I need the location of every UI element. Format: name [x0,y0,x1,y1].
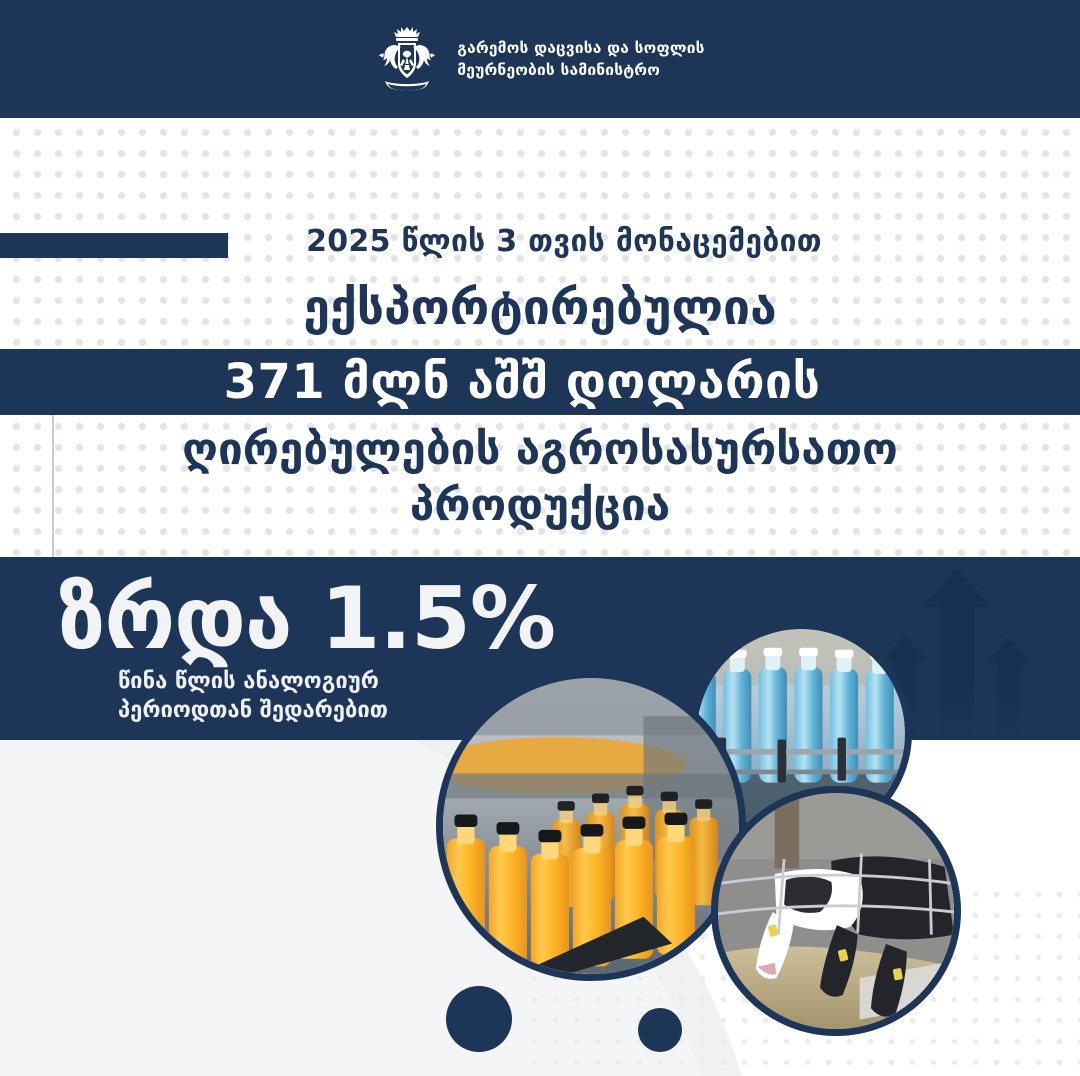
headline-line-3: ღირებულების აგროსასურსათო [0,422,1080,478]
ministry-name: გარემოს დაცვისა და სოფლის მეურნეობის სამ… [457,37,704,82]
headline-line-2: 371 მლნ აშშ დოლარის [224,354,821,410]
dairy-cows-photo [711,786,961,1036]
header-inner: გარემოს დაცვისა და სოფლის მეურნეობის სამ… [375,23,704,95]
decorative-circle-large [446,986,512,1052]
headline-line-1: ექსპორტირებულია [0,283,1080,335]
headline-lines-3-4: ღირებულების აგროსასურსათო პროდუქცია [0,422,1080,535]
header-bar: გარემოს დაცვისა და სოფლის მეურნეობის სამ… [0,0,1080,118]
infographic-canvas: გარემოს დაცვისა და სოფლის მეურნეობის სამ… [0,0,1080,1076]
juice-bottling-line-photo [436,671,746,981]
growth-note: წინა წლის ანალოგიურ პერიოდთან შედარებით [118,667,388,725]
georgian-coat-of-arms-icon [375,23,439,95]
headline-line-4: პროდუქცია [0,478,1080,534]
subtitle: 2025 წლის 3 თვის მონაცემებით [0,224,1080,259]
growth-value: ზრდა 1.5% [58,569,555,669]
decorative-circle-small [638,1008,682,1052]
headline-highlight-strip: 371 მლნ აშშ დოლარის [0,349,1080,415]
